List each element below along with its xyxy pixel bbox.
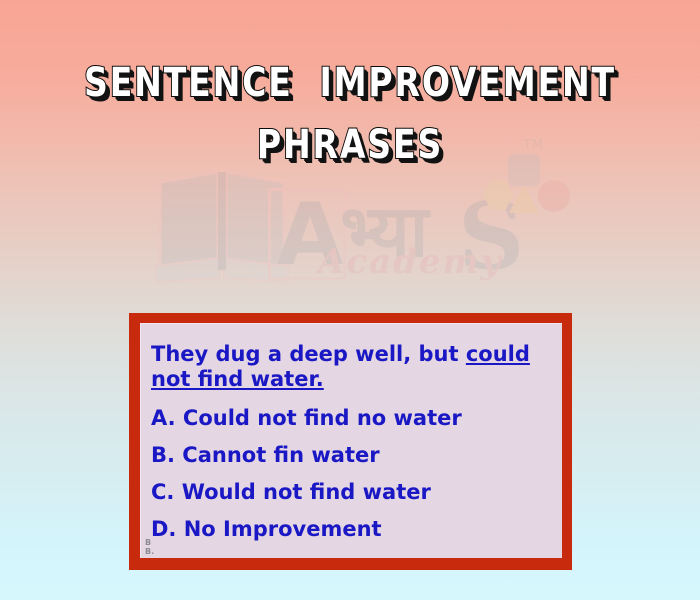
logo-script-word: Academy <box>318 242 502 282</box>
logo-devanagari-text: भ्या <box>340 180 426 278</box>
question-lead: They dug a deep well, but <box>151 342 466 366</box>
logo-a-frame <box>268 188 346 280</box>
logo-letter-s: S <box>458 182 524 290</box>
page-title: SENTENCE IMPROVEMENT PHRASES <box>0 52 700 176</box>
option-d[interactable]: D. No Improvement <box>151 517 548 542</box>
logo-letter-a: A <box>272 188 348 282</box>
open-book-icon <box>152 166 292 284</box>
footnote-line-1: B <box>145 538 154 547</box>
hexagon-shape-icon <box>483 180 513 210</box>
footnote-line-2: B. <box>145 547 154 556</box>
circle-shape-icon <box>538 180 570 212</box>
slide-canvas: A भ्या S Academy TM SENTENCE IMPROVEMENT… <box>0 0 700 600</box>
title-line-2: PHRASES <box>28 114 672 176</box>
question-card: They dug a deep well, but could not find… <box>129 313 572 570</box>
question-text: They dug a deep well, but could not find… <box>151 342 548 392</box>
triangle-shape-icon <box>509 185 539 213</box>
option-b[interactable]: B. Cannot fin water <box>151 443 548 468</box>
title-line-1: SENTENCE IMPROVEMENT <box>28 52 672 114</box>
footnote-marks: B B. <box>145 538 154 556</box>
option-a[interactable]: A. Could not find no water <box>151 406 548 431</box>
question-card-inner: They dug a deep well, but could not find… <box>140 323 562 558</box>
option-c[interactable]: C. Would not find water <box>151 480 548 505</box>
